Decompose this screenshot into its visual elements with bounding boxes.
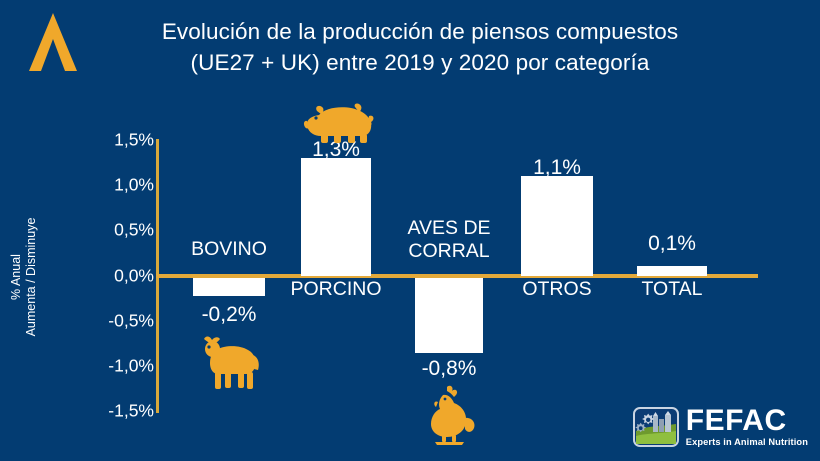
category-label-porcino: PORCINO xyxy=(266,278,406,301)
y-tick-1-5: 1,5% xyxy=(88,130,154,151)
cow-icon xyxy=(196,333,262,391)
y-tick-0-5: 0,5% xyxy=(88,220,154,241)
y-axis-title-line-1: % Anual xyxy=(9,254,23,300)
y-axis-tick-labels: 1,5% 1,0% 0,5% 0,0% -0,5% -1,0% -1,5% xyxy=(88,0,154,461)
category-label-bovino: BOVINO xyxy=(160,238,298,261)
value-label-aves-de-corral: -0,8% xyxy=(379,357,519,381)
bar-chart: % AnualAumenta / Disminuye 1,5% 1,0% 0,5… xyxy=(0,0,820,461)
bar-total[interactable] xyxy=(637,266,707,276)
fefac-tagline: Experts in Animal Nutrition xyxy=(686,437,808,448)
category-label-aves-de-corral: AVES DE CORRAL xyxy=(379,217,519,263)
y-tick-neg-1-5: -1,5% xyxy=(88,401,154,422)
value-label-total: 0,1% xyxy=(602,232,742,256)
category-label-aves-line-1: AVES DE xyxy=(407,217,490,239)
y-tick-neg-0-5: -0,5% xyxy=(88,311,154,332)
bar-aves-de-corral[interactable] xyxy=(415,278,483,353)
fefac-logo: FEFAC Experts in Animal Nutrition xyxy=(633,406,808,448)
fefac-mark-icon xyxy=(633,407,679,447)
y-tick-0-0: 0,0% xyxy=(88,266,154,287)
category-label-aves-line-2: CORRAL xyxy=(408,240,489,262)
fefac-wordmark: FEFAC xyxy=(686,406,787,436)
chicken-icon xyxy=(421,385,477,445)
y-axis-title-line-2: Aumenta / Disminuye xyxy=(24,218,38,337)
bar-porcino[interactable] xyxy=(301,158,371,276)
bar-otros[interactable] xyxy=(521,176,593,276)
value-label-bovino: -0,2% xyxy=(160,303,298,327)
y-tick-neg-1-0: -1,0% xyxy=(88,356,154,377)
pig-icon xyxy=(303,103,375,143)
y-tick-1-0: 1,0% xyxy=(88,175,154,196)
value-label-otros: 1,1% xyxy=(487,156,627,180)
bar-bovino[interactable] xyxy=(193,278,265,296)
y-axis-title: % AnualAumenta / Disminuye xyxy=(9,187,39,367)
category-label-total: TOTAL xyxy=(602,278,742,301)
